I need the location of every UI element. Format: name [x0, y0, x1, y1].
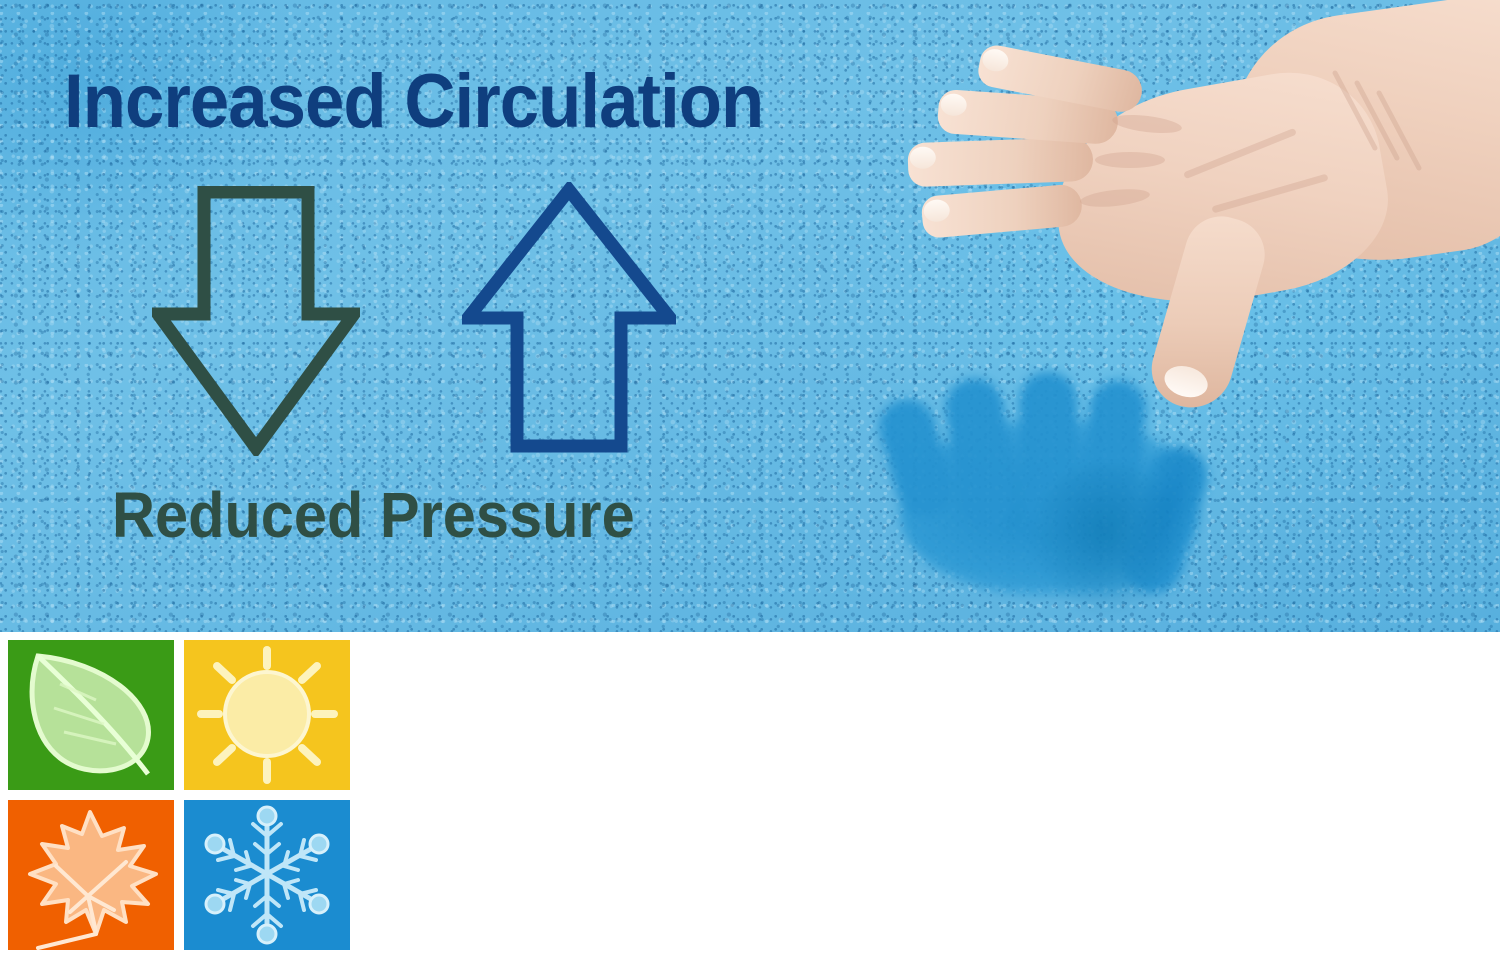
season-tile-winter [184, 800, 350, 950]
fingernail [940, 93, 967, 117]
maple-leaf-icon [8, 800, 174, 950]
season-tile-autumn [8, 800, 174, 950]
fingernail [923, 199, 951, 223]
increased-circulation-headline: Increased Circulation [64, 58, 763, 145]
down-arrow-icon [152, 186, 360, 461]
up-arrow-icon [462, 182, 676, 459]
season-tile-summer [184, 640, 350, 790]
bottom-info-band: 100% GEL-Infused Memory Foam with Temper… [0, 632, 1500, 962]
product-infographic: Increased Circulation Reduced Pressure [0, 0, 1500, 962]
fingernail [909, 146, 936, 169]
sun-icon [184, 640, 350, 790]
leaf-icon [8, 640, 174, 790]
season-tile-spring [8, 640, 174, 790]
snowflake-icon [184, 800, 350, 950]
knuckle-crease [1095, 152, 1165, 168]
thumbnail [1161, 361, 1212, 402]
hand-photo [880, 40, 1500, 500]
season-tile-grid [8, 640, 350, 952]
memory-foam-photo: Increased Circulation Reduced Pressure [0, 0, 1500, 632]
reduced-pressure-headline: Reduced Pressure [112, 478, 635, 552]
ring-finger [907, 137, 1093, 187]
fingernail [981, 47, 1011, 74]
